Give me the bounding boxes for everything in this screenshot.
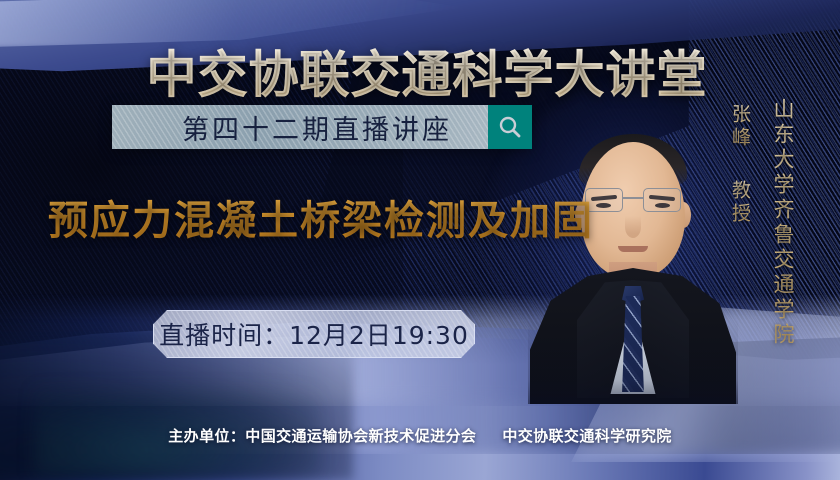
portrait-nose	[625, 216, 641, 238]
series-label: 第四十二期直播讲座	[148, 108, 452, 147]
speaker-name: 张峰	[727, 104, 754, 150]
series-banner-fill: 第四十二期直播讲座	[112, 105, 488, 149]
glasses-bridge	[623, 197, 643, 199]
speaker-role: 教授	[727, 180, 754, 226]
footer-organizer-1: 中国交通运输协会新技术促进分会	[245, 427, 476, 445]
page-title: 中交协联交通科学大讲堂	[0, 48, 840, 102]
search-icon-button[interactable]	[488, 105, 532, 149]
footer-organizer-2: 中交协联交通科学研究院	[502, 427, 671, 445]
portrait-mouth	[618, 246, 648, 252]
search-icon	[497, 114, 523, 140]
speaker-info: 山东大学齐鲁交通学院 张峰 教授	[727, 98, 798, 348]
speaker-name-role: 张峰 教授	[727, 104, 754, 226]
broadcast-time-text: 直播时间：12月2日19:30	[159, 316, 469, 352]
portrait-glasses	[585, 188, 681, 214]
organizers-footer: 主办单位：中国交通运输协会新技术促进分会中交协联交通科学研究院	[0, 425, 840, 446]
footer-prefix: 主办单位：	[168, 427, 245, 445]
speaker-portrait-photo	[528, 104, 738, 404]
lecture-topic: 预应力混凝土桥梁检测及加固	[48, 188, 594, 246]
webinar-poster: 中交协联交通科学大讲堂 中交协联交通科学大讲堂 第四十二期直播讲座 预应力混凝土…	[0, 0, 840, 480]
broadcast-time-badge: 直播时间：12月2日19:30	[153, 310, 475, 358]
series-banner: 第四十二期直播讲座	[112, 105, 532, 149]
speaker-organization: 山东大学齐鲁交通学院	[768, 98, 798, 348]
glasses-lens-right	[643, 188, 681, 212]
